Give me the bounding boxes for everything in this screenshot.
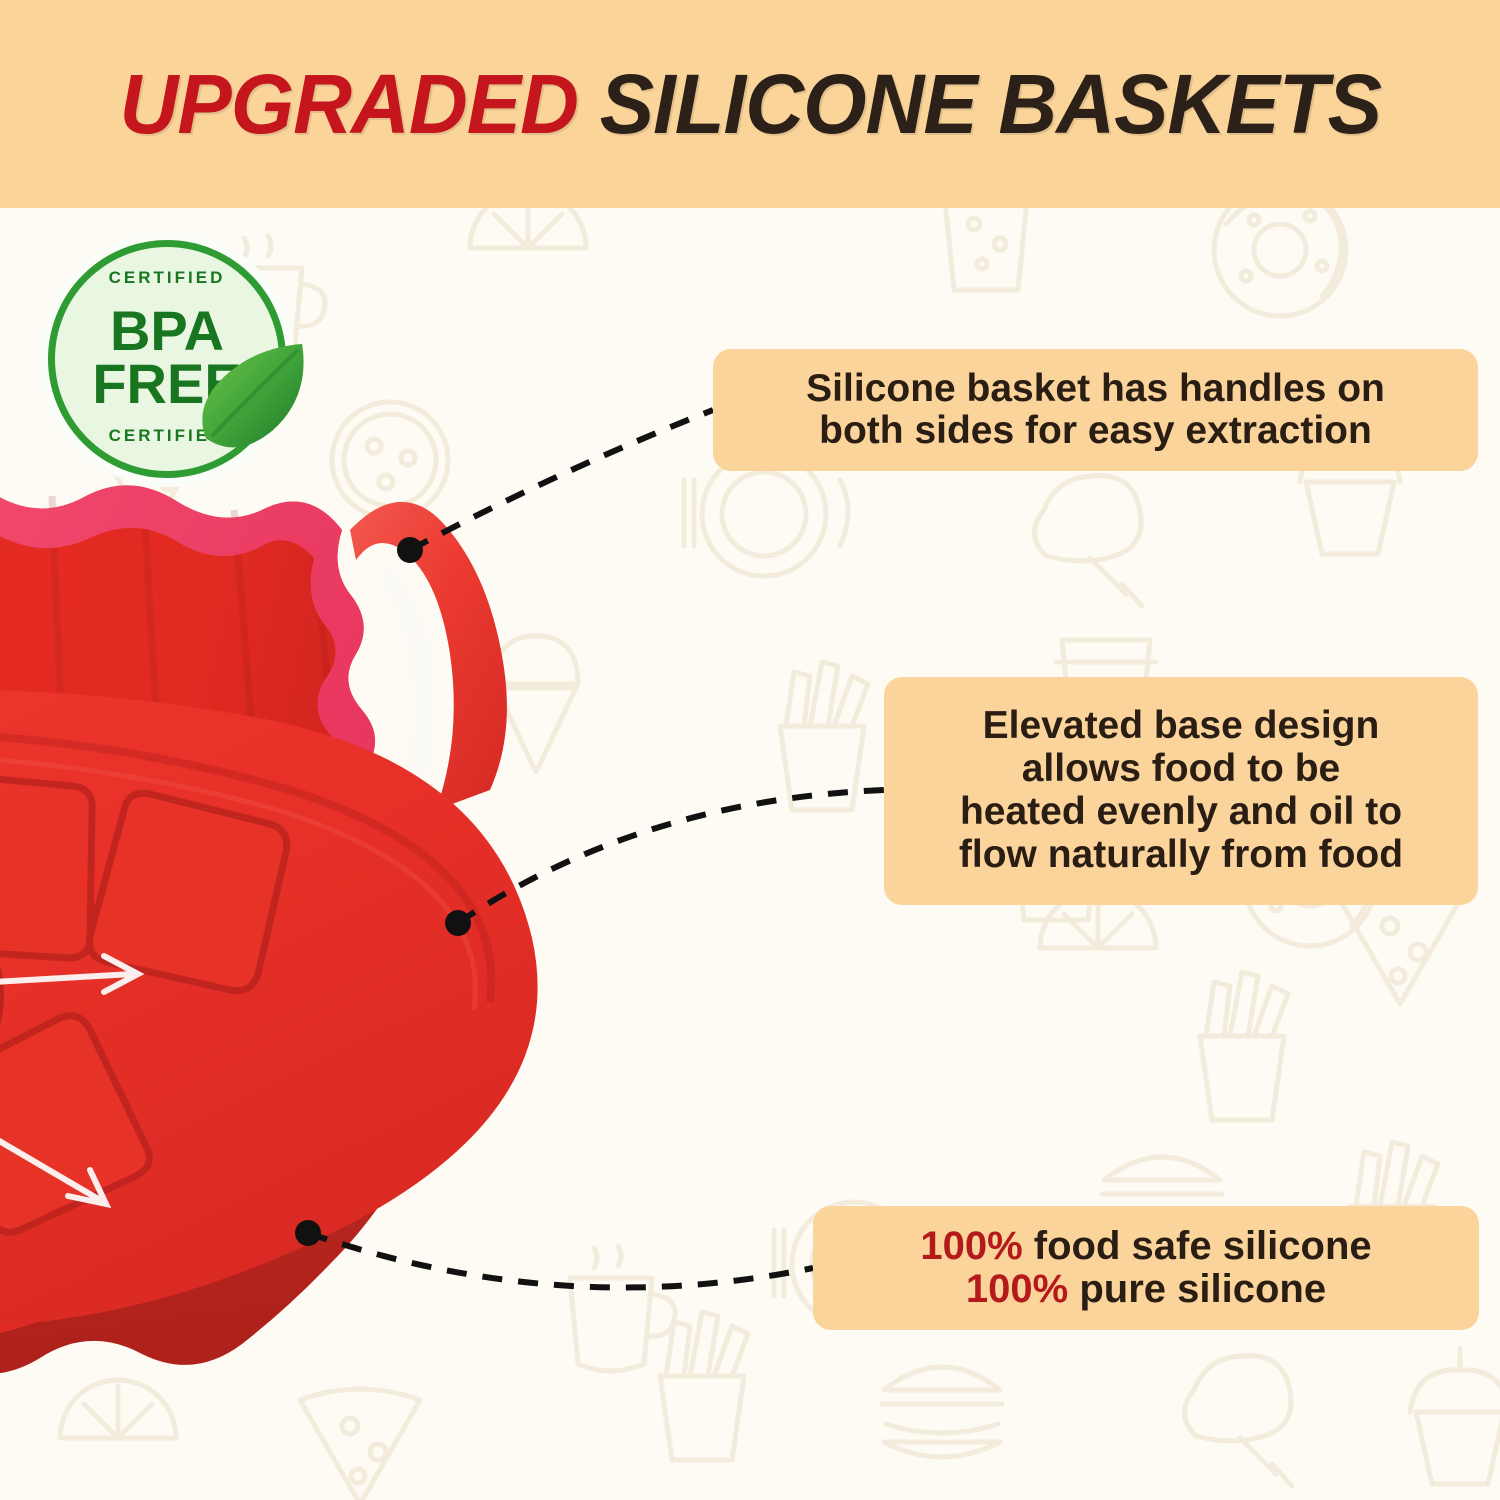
silicone-basket-illustration <box>0 418 880 1500</box>
callout-3-pct-1: 100% <box>920 1224 1022 1268</box>
header-band: UPGRADED SILICONE BASKETS <box>0 0 1500 208</box>
badge-certified-top: CERTIFIED <box>48 268 286 288</box>
callout-3-line-1: 100% food safe silicone <box>920 1225 1371 1268</box>
callout-food-safe: 100% food safe silicone 100% pure silico… <box>813 1206 1479 1330</box>
callout-2-line-3: heated evenly and oil to <box>959 791 1403 834</box>
leaf-icon <box>196 336 314 454</box>
callout-2-line-4: flow naturally from food <box>959 834 1403 877</box>
callout-3-pct-2: 100% <box>966 1267 1068 1311</box>
title-highlight: UPGRADED <box>119 57 578 151</box>
callout-elevated-base: Elevated base design allows food to be h… <box>884 677 1478 905</box>
title-rest: SILICONE BASKETS <box>578 57 1381 151</box>
page-title: UPGRADED SILICONE BASKETS <box>119 56 1380 153</box>
callout-3-text-2: pure silicone <box>1068 1267 1326 1311</box>
bpa-free-badge: CERTIFIED BPA FREE CERTIFIED <box>48 240 286 478</box>
callout-2-line-1: Elevated base design <box>959 705 1403 748</box>
callout-2-line-2: allows food to be <box>959 748 1403 791</box>
callout-3-line-2: 100% pure silicone <box>920 1268 1371 1311</box>
callout-1-line-2: both sides for easy extraction <box>806 410 1385 452</box>
callout-handles: Silicone basket has handles on both side… <box>713 349 1478 471</box>
callout-1-line-1: Silicone basket has handles on <box>806 368 1385 410</box>
product-infographic: UPGRADED SILICONE BASKETS CERTIFIED BPA … <box>0 0 1500 1500</box>
callout-3-text-1: food safe silicone <box>1023 1224 1372 1268</box>
